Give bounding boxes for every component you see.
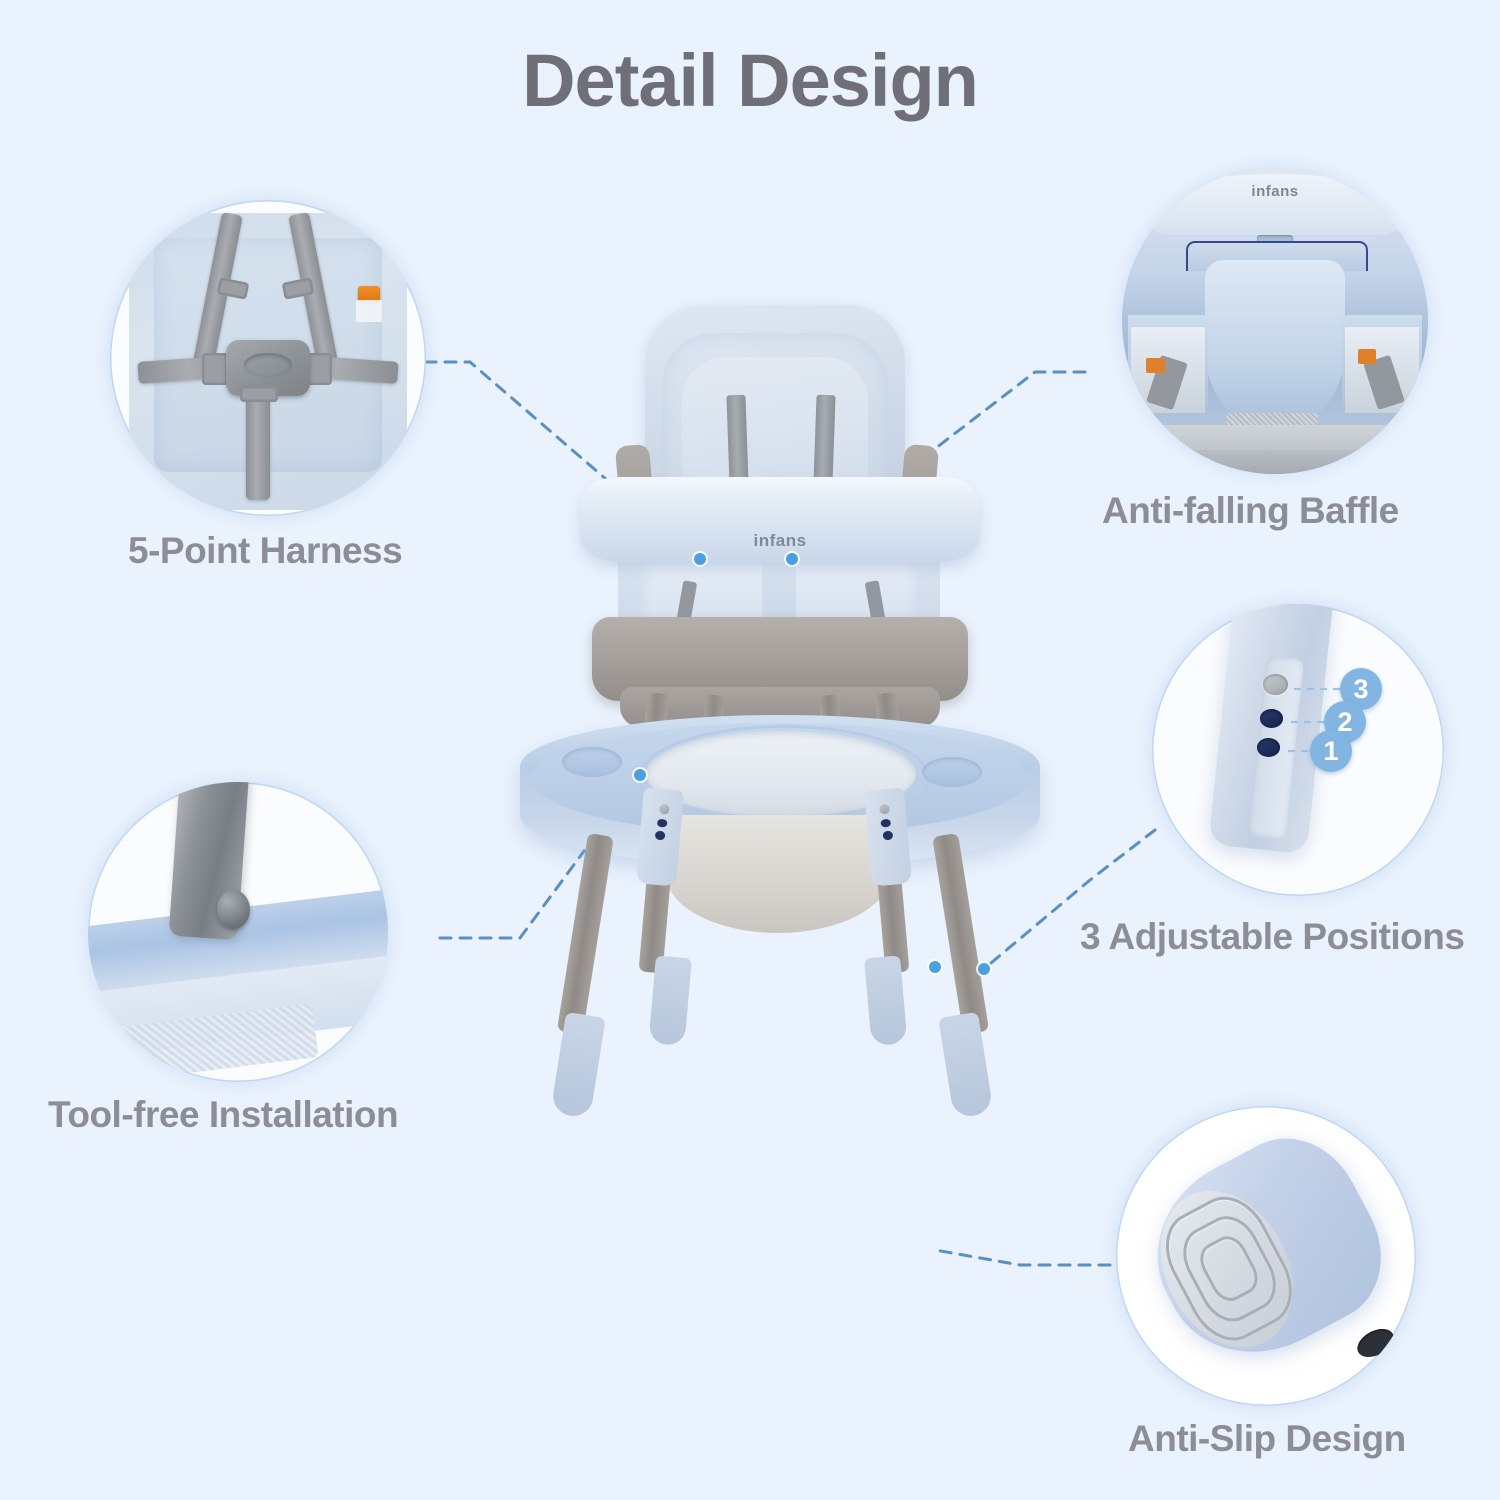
callout-label-antislip: Anti-Slip Design <box>1128 1418 1406 1460</box>
anchor-dot-toolfree <box>634 769 646 781</box>
adjust-block-right <box>864 787 912 886</box>
chair-adjust-hole-2 <box>657 818 667 827</box>
callout-tool-free-installation: Tool-free Installation <box>88 782 388 1082</box>
harness-crotch-clip <box>240 386 278 402</box>
anchor-dot-baffle <box>786 553 798 565</box>
harness-photo <box>110 200 426 516</box>
baffle-photo: infans <box>1122 168 1428 474</box>
toolfree-photo <box>88 782 388 1082</box>
shoulder-strap-right <box>813 395 835 486</box>
positions-photo: 3 2 1 <box>1152 604 1444 896</box>
foot-pad-face <box>1135 1167 1319 1370</box>
chair-adjust-hole-3b <box>879 804 890 814</box>
anchor-dot-antislip <box>929 961 941 973</box>
tray-compartment-right <box>922 757 982 787</box>
baffle-tag-left <box>1146 358 1164 373</box>
adjust-block-left <box>636 787 684 886</box>
leg-front-right <box>932 833 989 1035</box>
foot-rear-right <box>864 955 908 1046</box>
callout-label-positions: 3 Adjustable Positions <box>1080 916 1464 958</box>
page-title: Detail Design <box>0 40 1500 121</box>
callout-anti-slip-design: Anti-Slip Design <box>1116 1106 1416 1406</box>
spring-push-pin <box>217 890 250 929</box>
warning-tag-label <box>356 300 382 322</box>
infographic-canvas: Detail Design <box>0 0 1500 1500</box>
callout-anti-falling-baffle: infans Anti-falling Baffle <box>1122 168 1428 474</box>
badge-leader-lines <box>1152 604 1444 896</box>
foot-vent-hole <box>1353 1323 1399 1363</box>
callout-label-harness: 5-Point Harness <box>128 530 402 572</box>
baffle-base-shadow <box>1122 450 1428 474</box>
callout-three-positions: 3 2 1 3 Adjustable Positions <box>1152 604 1444 896</box>
callout-five-point-harness: 5-Point Harness <box>110 200 426 516</box>
foot-rear-left <box>648 955 692 1046</box>
chair-adjust-hole-1b <box>883 831 893 840</box>
position-badge-1: 1 <box>1310 730 1352 772</box>
tray-brand-logo: infans <box>580 531 980 551</box>
baffle-center-panel <box>1205 260 1346 428</box>
brand-logo-baffle: infans <box>1122 183 1428 200</box>
chair-tray-lip <box>588 477 972 503</box>
antislip-photo <box>1116 1106 1416 1406</box>
shoulder-strap-left <box>726 395 748 486</box>
callout-label-baffle: Anti-falling Baffle <box>1102 490 1399 532</box>
chair-adjust-hole-2b <box>881 818 891 827</box>
buckle-button <box>244 353 291 377</box>
booster-seat-shell <box>666 815 890 933</box>
harness-crotch-strap <box>246 390 270 500</box>
baffle-tag-right <box>1358 349 1376 364</box>
harness-side-clip-left <box>202 353 228 385</box>
chair-adjust-hole-3 <box>659 804 670 814</box>
anchor-dot-positions <box>978 963 990 975</box>
anchor-dot-harness <box>694 553 706 565</box>
chair-adjust-hole-1 <box>655 831 665 840</box>
product-high-chair: infans <box>470 295 1070 1305</box>
leg-front-left <box>557 833 614 1035</box>
callout-label-toolfree: Tool-free Installation <box>48 1094 398 1136</box>
tray-compartment-left <box>562 747 622 777</box>
